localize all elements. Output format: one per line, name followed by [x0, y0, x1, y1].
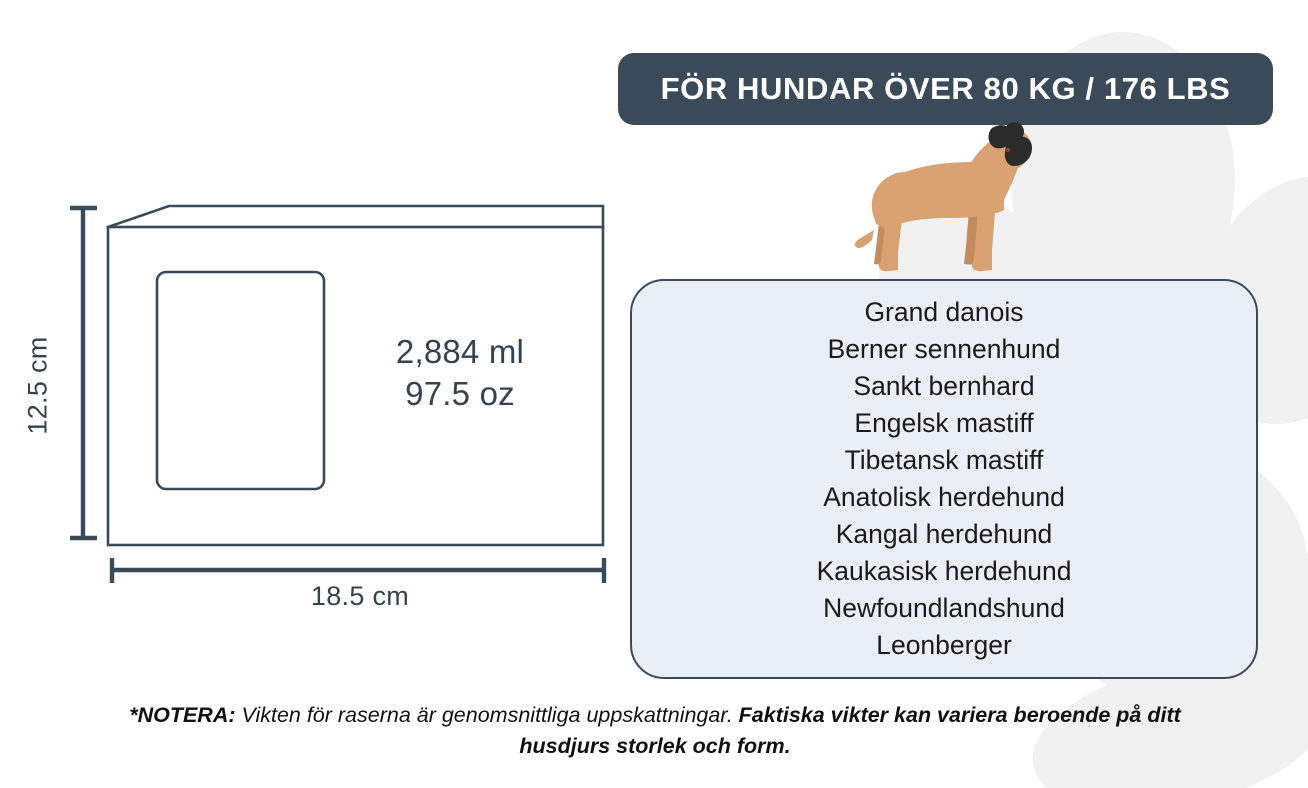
footnote-prefix: *NOTERA: [129, 703, 235, 727]
header-title: FÖR HUNDAR ÖVER 80 KG / 176 LBS [661, 71, 1231, 107]
box-window-panel [157, 272, 324, 489]
list-item: Newfoundlandshund [823, 590, 1065, 627]
breed-list-panel: Grand danois Berner sennenhund Sankt ber… [630, 279, 1258, 679]
box-volume-label: 2,884 ml 97.5 oz [300, 331, 620, 415]
list-item: Leonberger [876, 627, 1012, 664]
list-item: Sankt bernhard [853, 368, 1034, 405]
list-item: Berner sennenhund [828, 331, 1061, 368]
box-top-lid [108, 206, 603, 227]
header-banner: FÖR HUNDAR ÖVER 80 KG / 176 LBS [618, 53, 1273, 125]
box-dimension-diagram: 2,884 ml 97.5 oz 12.5 cm 18.5 cm [0, 0, 640, 640]
footnote-disclaimer: *NOTERA: Vikten för raserna är genomsnit… [120, 700, 1190, 761]
box-width-label: 18.5 cm [200, 581, 520, 612]
list-item: Tibetansk mastiff [845, 442, 1044, 479]
list-item: Kaukasisk herdehund [817, 553, 1072, 590]
box-line-drawing [0, 0, 640, 640]
list-item: Engelsk mastiff [854, 405, 1033, 442]
list-item: Kangal herdehund [836, 516, 1053, 553]
box-height-label: 12.5 cm [23, 296, 54, 476]
list-item: Anatolisk herdehund [823, 479, 1065, 516]
list-item: Grand danois [864, 294, 1023, 331]
footnote-normal-text: Vikten för raserna är genomsnittliga upp… [236, 703, 739, 727]
infographic-canvas: 2,884 ml 97.5 oz 12.5 cm 18.5 cm FÖR HUN… [0, 0, 1308, 788]
great-dane-dog-icon [852, 118, 1032, 273]
